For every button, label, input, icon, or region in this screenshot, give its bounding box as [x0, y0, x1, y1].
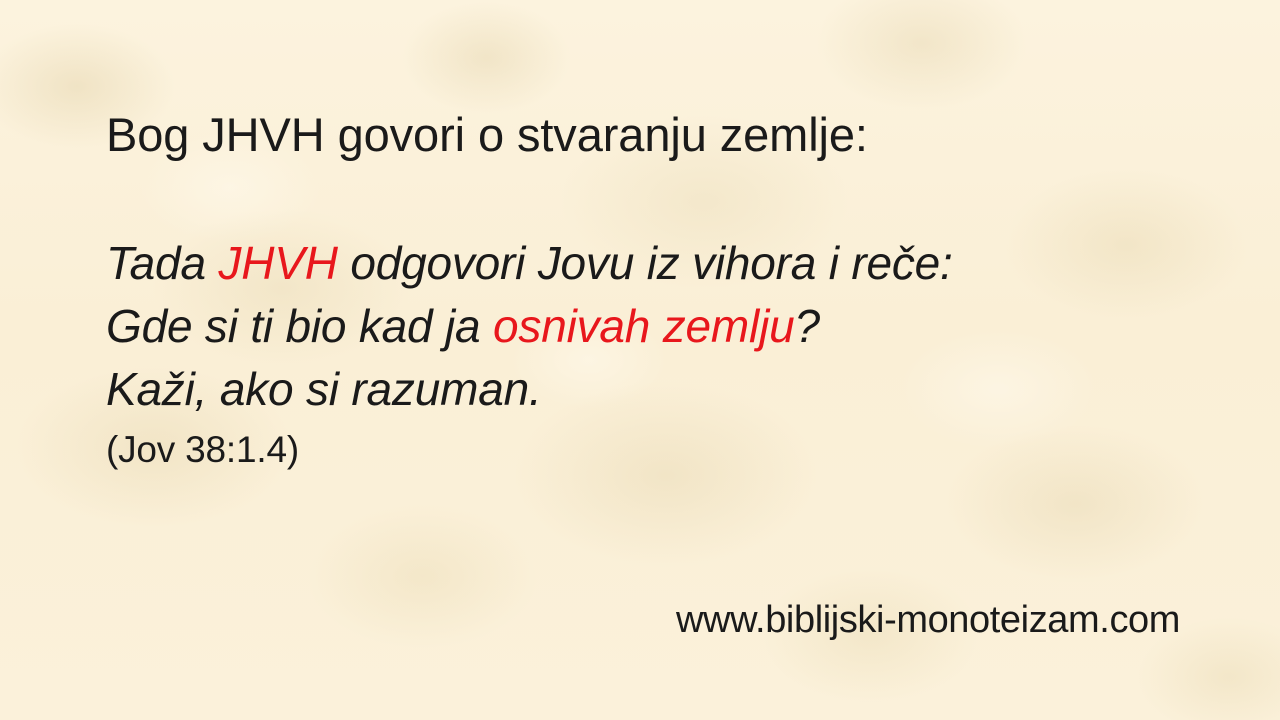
verse-line-1: Tada JHVH odgovori Jovu iz vihora i reče…: [106, 232, 953, 295]
verse-line-2: Gde si ti bio kad ja osnivah zemlju?: [106, 295, 953, 358]
slide-content: Bog JHVH govori o stvaranju zemlje: Tada…: [0, 0, 1280, 720]
verse-line-2-accent: osnivah zemlju: [493, 300, 794, 352]
presentation-slide: Bog JHVH govori o stvaranju zemlje: Tada…: [0, 0, 1280, 720]
website-url: www.biblijski-monoteizam.com: [676, 597, 1180, 643]
verse-quote: Tada JHVH odgovori Jovu iz vihora i reče…: [106, 232, 953, 421]
verse-line-1-before: Tada: [106, 237, 218, 289]
verse-line-3: Kaži, ako si razuman.: [106, 358, 953, 421]
slide-heading: Bog JHVH govori o stvaranju zemlje:: [106, 106, 868, 164]
verse-line-1-after: odgovori Jovu iz vihora i reče:: [338, 237, 953, 289]
verse-line-2-after: ?: [794, 300, 819, 352]
verse-line-1-accent: JHVH: [218, 237, 337, 289]
scripture-citation: (Jov 38:1.4): [106, 427, 299, 473]
verse-line-2-before: Gde si ti bio kad ja: [106, 300, 493, 352]
